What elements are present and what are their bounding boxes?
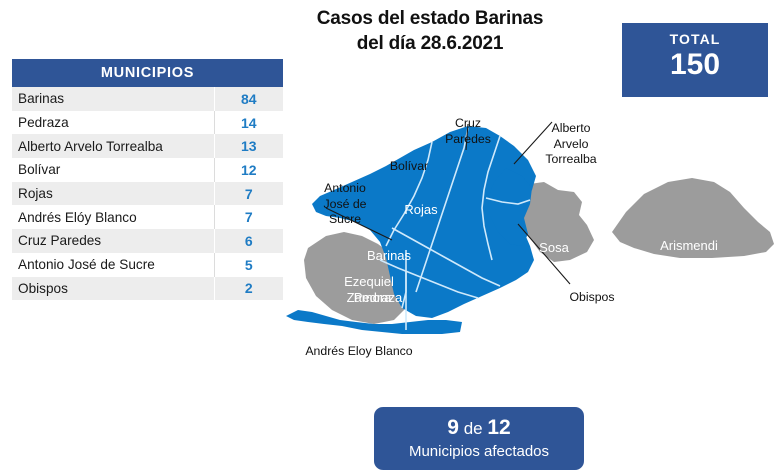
affected-badge-line1: 9 de 12	[374, 418, 584, 439]
municipios-table: MUNICIPIOS Barinas 84 Pedraza 14 Alberto…	[12, 59, 283, 300]
table-header: MUNICIPIOS	[12, 59, 283, 87]
table-cell-name: Bolívar	[12, 162, 214, 177]
map-outer-label-obispos: Obispos	[562, 290, 622, 306]
table-cell-value: 5	[214, 253, 283, 277]
table-row: Barinas 84	[12, 87, 283, 111]
table-cell-value: 7	[214, 205, 283, 229]
map-outer-label-antonio-line2: José de	[305, 197, 385, 213]
table-cell-value: 2	[214, 277, 283, 301]
table-cell-name: Obispos	[12, 281, 214, 296]
map-outer-label-cruz-paredes-line2: Paredes	[428, 132, 508, 148]
map-outer-label-antonio-jose-de-sucre: Antonio José de Sucre	[305, 181, 385, 228]
affected-municipalities-badge: 9 de 12 Municipios afectados	[374, 407, 584, 470]
table-cell-name: Rojas	[12, 186, 214, 201]
slide-root: Casos del estado Barinas del día 28.6.20…	[0, 0, 780, 470]
table-cell-value: 7	[214, 182, 283, 206]
table-row: Bolívar 12	[12, 158, 283, 182]
table-cell-value: 12	[214, 158, 283, 182]
table-cell-name: Barinas	[12, 91, 214, 106]
page-title-line1: Casos del estado Barinas	[270, 6, 590, 31]
map-label-arismendi: Arismendi	[634, 238, 744, 254]
map-outer-label-bolivar: Bolívar	[381, 159, 437, 175]
table-cell-value: 13	[214, 134, 283, 158]
map-outer-label-alberto-line2: Arvelo	[528, 137, 614, 153]
table-cell-value: 14	[214, 111, 283, 135]
page-title-line2: del día 28.6.2021	[270, 31, 590, 56]
table-row: Pedraza 14	[12, 111, 283, 135]
total-badge: TOTAL 150	[622, 23, 768, 97]
total-badge-label: TOTAL	[622, 31, 768, 47]
table-cell-name: Cruz Paredes	[12, 233, 214, 248]
map-outer-label-andres-eloy-blanco: Andrés Eloy Blanco	[291, 344, 427, 360]
map-outer-label-alberto-arvelo-torrealba: Alberto Arvelo Torrealba	[528, 121, 614, 168]
map-outer-label-cruz-paredes: Cruz Paredes	[428, 116, 508, 147]
map-outer-label-alberto-line1: Alberto	[528, 121, 614, 137]
table-row: Rojas 7	[12, 182, 283, 206]
map-label-sosa: Sosa	[520, 240, 588, 256]
map-outer-label-alberto-line3: Torrealba	[528, 152, 614, 168]
affected-badge-caption: Municipios afectados	[374, 442, 584, 461]
table-cell-name: Alberto Arvelo Torrealba	[12, 139, 214, 154]
page-title: Casos del estado Barinas del día 28.6.20…	[270, 6, 590, 56]
table-row: Obispos 2	[12, 277, 283, 301]
table-cell-value: 84	[214, 87, 283, 111]
map-label-ezequiel-zamora: Ezequiel Zamora	[324, 274, 414, 306]
affected-of-word: de	[464, 419, 483, 438]
table-row: Cruz Paredes 6	[12, 229, 283, 253]
map-label-rojas: Rojas	[386, 202, 456, 218]
table-cell-name: Andrés Elóy Blanco	[12, 210, 214, 225]
affected-total: 12	[487, 416, 510, 439]
table-cell-name: Pedraza	[12, 115, 214, 130]
map-label-ezequiel-zamora-line2: Zamora	[324, 290, 414, 306]
affected-count: 9	[447, 416, 459, 439]
table-row: Alberto Arvelo Torrealba 13	[12, 134, 283, 158]
map-outer-label-cruz-paredes-line1: Cruz	[428, 116, 508, 132]
total-badge-value: 150	[622, 48, 768, 82]
map-label-barinas: Barinas	[344, 248, 434, 264]
table-cell-name: Antonio José de Sucre	[12, 257, 214, 272]
table-row: Andrés Elóy Blanco 7	[12, 205, 283, 229]
table-row: Antonio José de Sucre 5	[12, 253, 283, 277]
map-label-ezequiel-zamora-line1: Ezequiel	[324, 274, 414, 290]
map-outer-label-antonio-line1: Antonio	[305, 181, 385, 197]
table-cell-value: 6	[214, 229, 283, 253]
map-outer-label-antonio-line3: Sucre	[305, 212, 385, 228]
